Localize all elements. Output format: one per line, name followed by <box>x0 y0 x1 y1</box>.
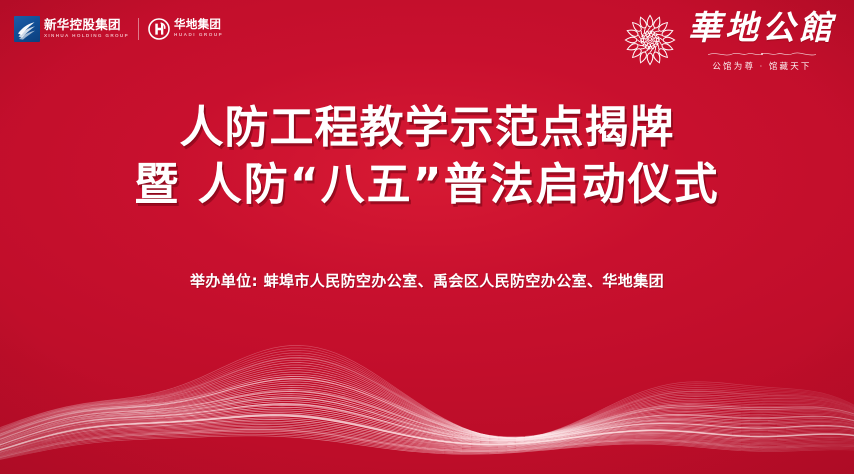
huadi-group-logo[interactable]: 华地集团 HUADI GROUP <box>148 18 223 40</box>
brand-text-block: 華地公館 公馆为尊 · 馆藏天下 <box>688 10 836 72</box>
organizers-subtitle: 举办单位: 蚌埠市人民防空办公室、禹会区人民防空办公室、华地集团 <box>0 270 854 291</box>
xinhua-name-cn: 新华控股集团 <box>44 19 129 32</box>
flowing-line-waves-decoration <box>0 284 854 474</box>
poster-canvas: 新华控股集团 XINHUA HOLDING GROUP 华地集团 HUADI G… <box>0 0 854 474</box>
xinhua-wordmark: 新华控股集团 XINHUA HOLDING GROUP <box>44 19 129 38</box>
logo-divider <box>138 18 139 40</box>
huadi-name-en: HUADI GROUP <box>174 33 223 38</box>
huadi-name-cn: 华地集团 <box>174 20 223 32</box>
brand-tagline: 公馆为尊 · 馆藏天下 <box>712 60 811 72</box>
huadi-circle-h-icon <box>148 18 170 40</box>
mandala-rosette-icon <box>622 12 678 68</box>
headline-line-1: 人防工程教学示范点揭牌 <box>0 100 854 156</box>
flourish-divider-icon <box>701 50 823 58</box>
poster-headline: 人防工程教学示范点揭牌 暨 人防“八五”普法启动仪式 <box>0 100 854 214</box>
huadi-mansion-brand-lockup[interactable]: 華地公館 公馆为尊 · 馆藏天下 <box>622 10 836 72</box>
xinhua-swoosh-icon <box>14 16 40 42</box>
xinhua-name-en: XINHUA HOLDING GROUP <box>44 34 129 39</box>
brand-name: 華地公館 <box>688 12 836 47</box>
partner-logo-bar: 新华控股集团 XINHUA HOLDING GROUP 华地集团 HUADI G… <box>14 14 223 44</box>
xinhua-holding-group-logo[interactable]: 新华控股集团 XINHUA HOLDING GROUP <box>14 16 129 42</box>
huadi-wordmark: 华地集团 HUADI GROUP <box>174 20 223 38</box>
headline-line-2: 暨 人防“八五”普法启动仪式 <box>0 156 854 214</box>
